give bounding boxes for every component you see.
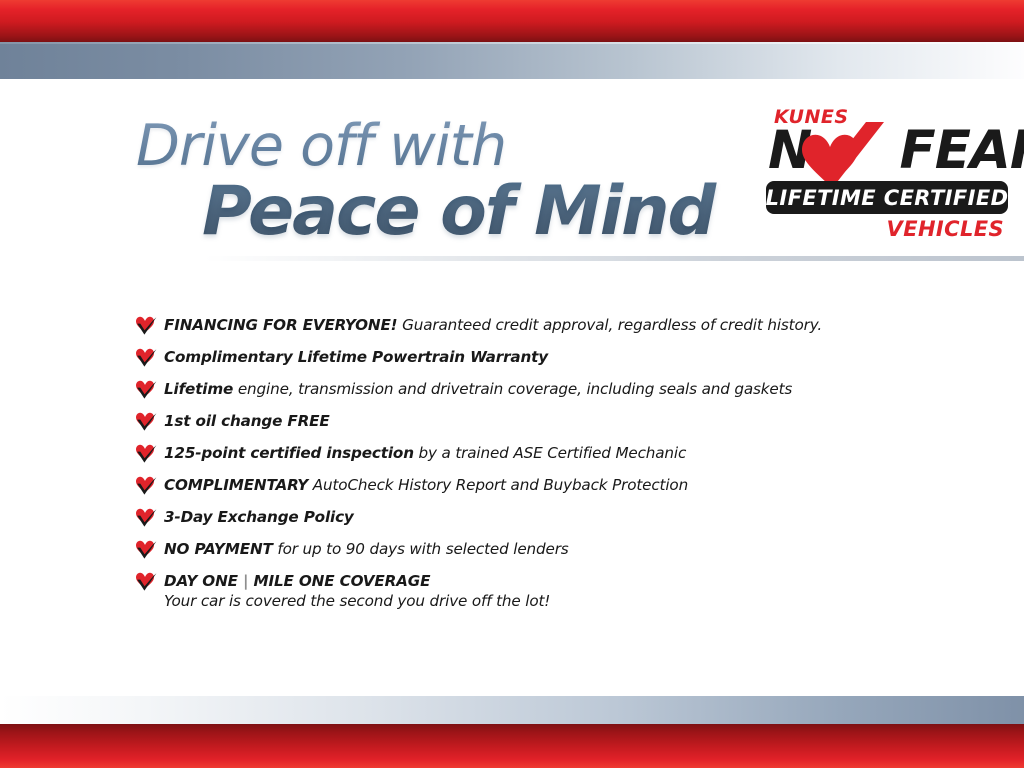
- list-item-bold-a: DAY ONE: [164, 572, 238, 590]
- list-item-rest: Guaranteed credit approval, regardless o…: [397, 316, 822, 334]
- headline-line-1: Drive off with: [136, 118, 756, 175]
- kunes-no-fear-logo: KUNES NOOFEAR LIFETIME CERTIFIED VEHICLE…: [762, 106, 1010, 248]
- bottom-banner: [0, 690, 1024, 768]
- bottom-red-band: [0, 724, 1024, 768]
- heart-check-icon: [134, 474, 157, 495]
- heart-check-icon: [134, 346, 157, 367]
- list-item: Lifetime engine, transmission and drivet…: [134, 373, 954, 405]
- list-item-bold: 3-Day Exchange Policy: [164, 508, 354, 526]
- list-item-text: FINANCING FOR EVERYONE! Guaranteed credi…: [164, 316, 822, 334]
- list-item: NO PAYMENT for up to 90 days with select…: [134, 533, 954, 565]
- top-banner: [0, 0, 1024, 79]
- list-item-bold: COMPLIMENTARY: [164, 476, 308, 494]
- list-item: 1st oil change FREE: [134, 405, 954, 437]
- list-item-rest: engine, transmission and drivetrain cove…: [233, 380, 792, 398]
- list-item-text: 1st oil change FREE: [164, 412, 330, 430]
- heart-check-icon: [134, 570, 157, 591]
- list-item-bold: 1st oil change FREE: [164, 412, 330, 430]
- logo-letter-n: N: [768, 120, 811, 181]
- logo-vehicles-label: VEHICLES: [887, 217, 1004, 241]
- list-item-text: NO PAYMENT for up to 90 days with select…: [164, 540, 569, 558]
- list-item-text: Complimentary Lifetime Powertrain Warran…: [164, 348, 548, 366]
- top-gray-band: [0, 42, 1024, 79]
- list-item-rest: by a trained ASE Certified Mechanic: [414, 444, 686, 462]
- list-item-bold: FINANCING FOR EVERYONE!: [164, 316, 397, 334]
- feature-subline: Your car is covered the second you drive…: [164, 592, 550, 610]
- heart-check-icon: [134, 314, 157, 335]
- list-item-text: 125-point certified inspection by a trai…: [164, 444, 686, 462]
- list-item-bold-b: MILE ONE COVERAGE: [254, 572, 431, 590]
- list-item: FINANCING FOR EVERYONE! Guaranteed credi…: [134, 309, 954, 341]
- list-item-rest: for up to 90 days with selected lenders: [273, 540, 569, 558]
- heart-check-icon: [134, 378, 157, 399]
- list-item-rest: AutoCheck History Report and Buyback Pro…: [308, 476, 688, 494]
- list-item-bold: Lifetime: [164, 380, 233, 398]
- bottom-gray-band: [0, 696, 1024, 724]
- headline-block: Drive off with Peace of Mind: [136, 118, 756, 246]
- list-item: Complimentary Lifetime Powertrain Warran…: [134, 341, 954, 373]
- list-item-bold: NO PAYMENT: [164, 540, 273, 558]
- list-item-text: COMPLIMENTARY AutoCheck History Report a…: [164, 476, 688, 494]
- top-red-band: [0, 0, 1024, 42]
- logo-bar-label: LIFETIME CERTIFIED: [766, 186, 1009, 210]
- list-item-text: DAY ONE | MILE ONE COVERAGE: [164, 572, 430, 590]
- list-item: 125-point certified inspection by a trai…: [134, 437, 954, 469]
- heart-check-icon: [134, 506, 157, 527]
- list-item-bold: Complimentary Lifetime Powertrain Warran…: [164, 348, 548, 366]
- feature-list: FINANCING FOR EVERYONE! Guaranteed credi…: [134, 309, 954, 597]
- logo-word-fear: FEAR: [899, 120, 1024, 181]
- logo-no-fear-wordmark: NOOFEAR: [768, 124, 1024, 177]
- heart-check-icon: [134, 410, 157, 431]
- list-item: COMPLIMENTARY AutoCheck History Report a…: [134, 469, 954, 501]
- headline-line-2: Peace of Mind: [136, 177, 756, 246]
- logo-lifetime-certified-bar: LIFETIME CERTIFIED: [766, 181, 1008, 214]
- headline-divider: [0, 256, 1024, 261]
- list-item-text: 3-Day Exchange Policy: [164, 508, 354, 526]
- heart-check-icon: [134, 442, 157, 463]
- list-item: 3-Day Exchange Policy: [134, 501, 954, 533]
- list-item-bold: 125-point certified inspection: [164, 444, 414, 462]
- list-item-text: Lifetime engine, transmission and drivet…: [164, 380, 792, 398]
- heart-check-icon: [134, 538, 157, 559]
